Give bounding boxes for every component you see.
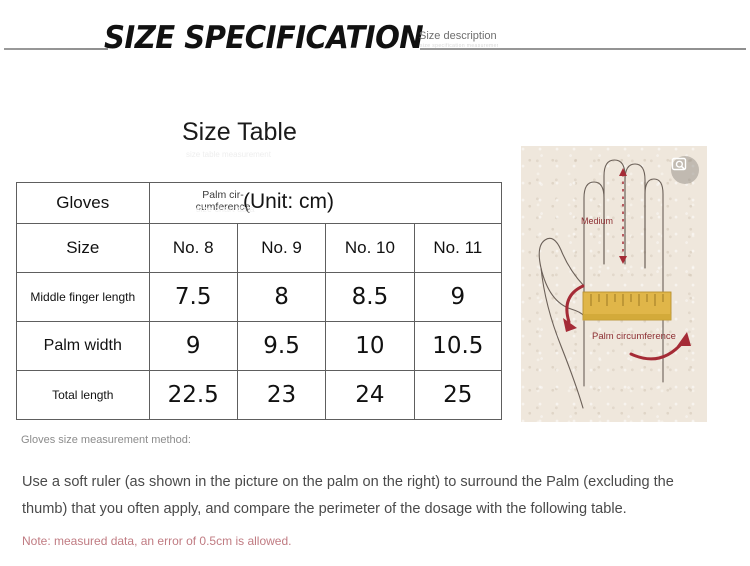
palm-circumference-label: Palm circumference — [592, 331, 676, 342]
cell-palm-width-no10: 10 — [326, 322, 414, 371]
measurement-method-title: Gloves size measurement method: — [21, 434, 196, 447]
size-table: Gloves Size No. 8 No. 9 No. 10 No. 11 Mi… — [16, 182, 502, 420]
cell-middle-finger-length-no8: 7.5 — [149, 273, 237, 322]
next-image-strip — [0, 558, 750, 566]
page-title: SIZE SPECIFICATION — [104, 20, 423, 56]
cell-middle-finger-length-no9: 8 — [237, 273, 325, 322]
header-gloves: Gloves — [17, 183, 150, 224]
cell-total-length-no9: 23 — [237, 371, 325, 420]
medium-length-arrow — [619, 168, 627, 264]
row-label-palm-width: Palm width — [17, 322, 150, 371]
tolerance-note: Note: measured data, an error of 0.5cm i… — [22, 534, 291, 548]
section-watermark-text: size table measurement — [186, 150, 271, 159]
cell-middle-finger-length-no11: 9 — [414, 273, 501, 322]
size-value-0: No. 8 — [149, 224, 237, 273]
cell-palm-width-no9: 9.5 — [237, 322, 325, 371]
palm-circ-line-1: Palm cir- — [202, 189, 243, 201]
row-label-total-length: Total length — [17, 371, 150, 420]
row-label-size: Size — [17, 224, 150, 273]
image-search-glyph — [671, 156, 687, 172]
banner-rule-left — [4, 48, 108, 50]
cell-total-length-no8: 22.5 — [149, 371, 237, 420]
cell-palm-width-no8: 9 — [149, 322, 237, 371]
cell-middle-finger-length-no10: 8.5 — [326, 273, 414, 322]
cell-total-length-no10: 24 — [326, 371, 414, 420]
image-search-icon[interactable] — [671, 156, 699, 184]
size-value-3: No. 11 — [414, 224, 501, 273]
cell-total-length-no11: 25 — [414, 371, 501, 420]
size-value-2: No. 10 — [326, 224, 414, 273]
row-label-middle-finger-length: Middle finger length — [17, 273, 150, 322]
arrow-head-right — [677, 332, 691, 346]
table-watermark-text: size chart data — [196, 204, 255, 214]
table-row: Total length 22.5 23 24 25 — [17, 371, 502, 420]
banner-subtitle: Size description — [419, 30, 497, 42]
size-specification-page: SIZE SPECIFICATION Size description size… — [0, 0, 750, 566]
measuring-tape — [583, 292, 671, 320]
size-value-1: No. 9 — [237, 224, 325, 273]
table-row: Palm width 9 9.5 10 10.5 — [17, 322, 502, 371]
unit-label: (Unit: cm) — [243, 190, 334, 214]
section-title: Size Table — [182, 118, 297, 147]
table-size-row: Size No. 8 No. 9 No. 10 No. 11 — [17, 224, 502, 273]
table-row: Middle finger length 7.5 8 8.5 9 — [17, 273, 502, 322]
banner-watermark-text: size specification measurement — [420, 43, 498, 49]
cell-palm-width-no11: 10.5 — [414, 322, 501, 371]
hand-measurement-illustration: Medium Palm circumference — [521, 146, 707, 422]
hand-diagram-svg — [521, 146, 707, 422]
medium-label: Medium — [581, 216, 613, 226]
banner-header: SIZE SPECIFICATION Size description size… — [0, 24, 750, 70]
measurement-instructions: Use a soft ruler (as shown in the pictur… — [22, 468, 707, 522]
